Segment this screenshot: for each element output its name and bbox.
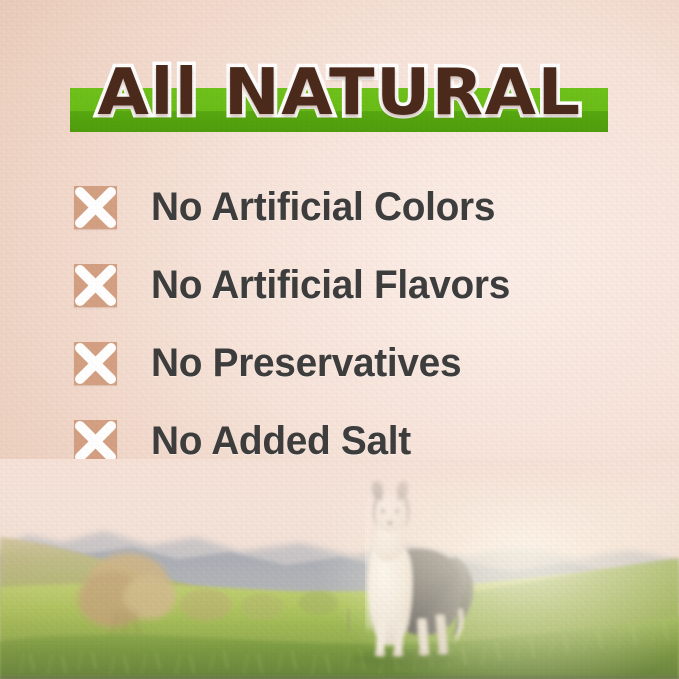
x-mark-icon <box>74 342 117 385</box>
claim-label: No Added Salt <box>151 420 411 462</box>
page-title: All NATURAL <box>0 48 679 138</box>
list-item: No Preservatives <box>0 324 679 402</box>
title-banner: All NATURAL <box>0 48 679 140</box>
x-mark-icon <box>74 186 117 229</box>
list-item: No Artificial Colors <box>0 168 679 246</box>
x-mark-icon <box>74 420 117 463</box>
claims-list: No Artificial Colors No Artificial Flavo… <box>0 168 679 480</box>
claim-label: No Artificial Flavors <box>151 264 510 306</box>
product-feature-poster: All NATURAL No Artificial Colors <box>0 0 679 679</box>
lifestyle-photo <box>0 459 679 679</box>
claim-label: No Artificial Colors <box>151 186 495 228</box>
x-mark-icon <box>74 264 117 307</box>
list-item: No Artificial Flavors <box>0 246 679 324</box>
claim-label: No Preservatives <box>151 342 461 384</box>
